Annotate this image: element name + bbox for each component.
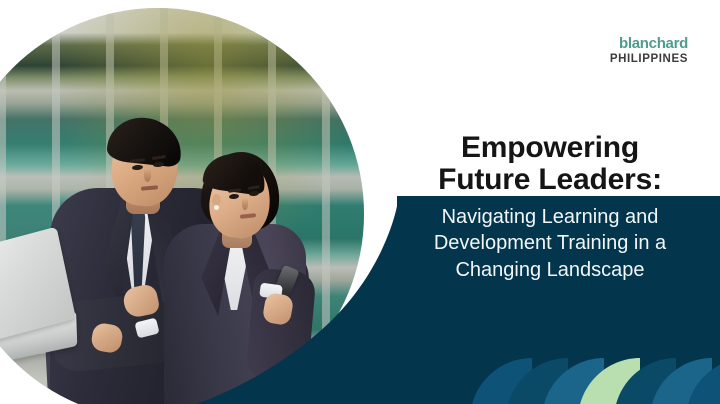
promo-banner: blanchard PHILIPPINES Empowering Future … — [0, 0, 720, 404]
businesswoman-earring — [214, 205, 219, 210]
brand-name: blanchard — [596, 36, 688, 52]
businesswoman-nose — [242, 198, 248, 210]
businessman-nose — [144, 169, 151, 182]
headline: Empowering Future Leaders: — [390, 132, 710, 197]
subheadline-line-2: Development Training in a — [384, 230, 716, 256]
brand-logo: blanchard PHILIPPINES — [596, 36, 688, 66]
headline-line-2: Future Leaders: — [390, 164, 710, 196]
subheadline: Navigating Learning and Development Trai… — [384, 204, 716, 283]
headline-line-1: Empowering — [390, 132, 710, 164]
brand-region: PHILIPPINES — [596, 52, 688, 66]
petal-pattern-band — [470, 342, 720, 404]
subheadline-line-3: Changing Landscape — [384, 257, 716, 283]
petal-shape — [686, 358, 720, 404]
subheadline-line-1: Navigating Learning and — [384, 204, 716, 230]
